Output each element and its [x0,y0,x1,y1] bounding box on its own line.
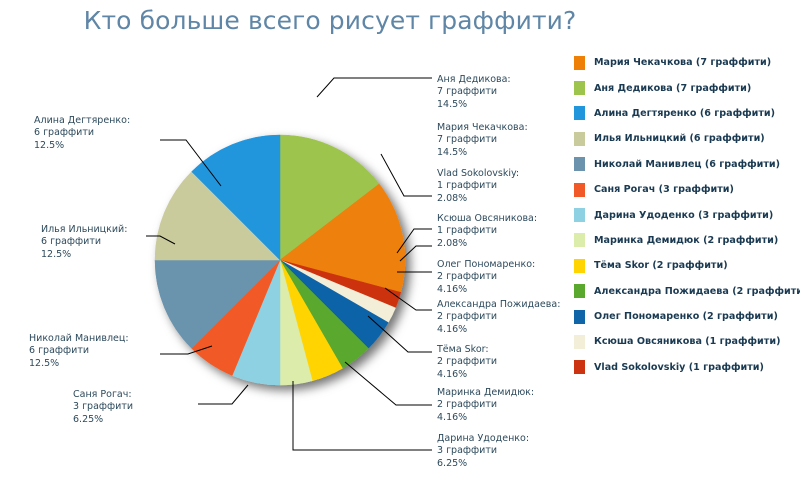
callout-percent: 4.16% [437,324,560,336]
callout-label: Николай Манивлец:6 граффити12.5% [29,333,129,370]
callout-percent: 12.5% [29,358,129,370]
callout-name: Александра Пожидаева: [437,299,560,311]
callout-name: Маринка Демидюк: [437,387,534,399]
callout-count: 6 граффити [41,236,127,248]
legend-label: Аня Дедикова (7 граффити) [594,83,751,94]
legend-label: Мария Чекачкова (7 граффити) [594,57,771,68]
callout-percent: 2.08% [437,238,537,250]
legend-swatch-icon [574,335,585,349]
callout-count: 7 граффити [437,86,511,98]
legend-label: Ксюша Овсяникова (1 граффити) [594,336,780,347]
callout-count: 2 граффити [437,399,534,411]
callout-percent: 4.16% [437,284,535,296]
leader-line [317,78,432,97]
callout-name: Алина Дегтяренко: [34,115,130,127]
pie-slices [155,135,405,385]
legend-item[interactable]: Александра Пожидаева (2 граффити) [574,279,800,304]
callout-count: 2 граффити [437,311,560,323]
callout-percent: 14.5% [437,147,528,159]
legend-item[interactable]: Маринка Демидюк (2 граффити) [574,228,800,253]
legend-label: Маринка Демидюк (2 граффити) [594,235,778,246]
legend-swatch-icon [574,310,585,324]
legend-item[interactable]: Мария Чекачкова (7 граффити) [574,50,800,75]
callout-percent: 4.16% [437,369,497,381]
legend-swatch-icon [574,183,585,197]
callout-percent: 4.16% [437,412,534,424]
callout-count: 2 граффити [437,271,535,283]
leader-line [198,385,248,404]
callout-count: 7 граффити [437,134,528,146]
callout-percent: 14.5% [437,99,511,111]
legend-swatch-icon [574,106,585,120]
legend-swatch-icon [574,132,585,146]
callout-label: Тёма Skor:2 граффити4.16% [437,344,497,381]
legend-swatch-icon [574,360,585,374]
callout-count: 3 граффити [73,401,133,413]
legend-swatch-icon [574,284,585,298]
legend-label: Дарина Удоденко (3 граффити) [594,210,773,221]
legend-item[interactable]: Vlad Sokolovskiy (1 граффити) [574,355,800,380]
legend-swatch-icon [574,81,585,95]
callout-label: Ксюша Овсяникова:1 граффити2.08% [437,213,537,250]
callout-name: Саня Рогач: [73,389,133,401]
callout-name: Мария Чекачкова: [437,122,528,134]
callout-label: Саня Рогач:3 граффити6.25% [73,389,133,426]
callout-percent: 6.25% [73,414,133,426]
callout-label: Олег Пономаренко:2 граффити4.16% [437,259,535,296]
legend-label: Саня Рогач (3 граффити) [594,184,734,195]
legend-label: Илья Ильницкий (6 граффити) [594,133,765,144]
callout-percent: 12.5% [34,140,130,152]
callout-label: Vlad Sokolovskiy:1 граффити2.08% [437,168,519,205]
callout-percent: 2.08% [437,193,519,205]
legend-label: Николай Манивлец (6 граффити) [594,159,780,170]
legend-label: Олег Пономаренко (2 граффити) [594,311,778,322]
callout-label: Дарина Удоденко:3 граффити6.25% [437,433,529,470]
legend-swatch-icon [574,233,585,247]
callout-count: 1 граффити [437,180,519,192]
legend-swatch-icon [574,56,585,70]
callout-name: Николай Манивлец: [29,333,129,345]
callout-label: Илья Ильницкий:6 граффити12.5% [41,224,127,261]
legend-item[interactable]: Тёма Skor (2 граффити) [574,253,800,278]
legend-item[interactable]: Илья Ильницкий (6 граффити) [574,126,800,151]
legend-item[interactable]: Саня Рогач (3 граффити) [574,177,800,202]
callout-name: Ксюша Овсяникова: [437,213,537,225]
callout-label: Алина Дегтяренко:6 граффити12.5% [34,115,130,152]
callout-name: Vlad Sokolovskiy: [437,168,519,180]
callout-name: Илья Ильницкий: [41,224,127,236]
legend-item[interactable]: Алина Дегтяренко (6 граффити) [574,101,800,126]
callout-count: 3 граффити [437,445,529,457]
callout-label: Аня Дедикова:7 граффити14.5% [437,74,511,111]
legend-item[interactable]: Аня Дедикова (7 граффити) [574,75,800,100]
callout-label: Маринка Демидюк:2 граффити4.16% [437,387,534,424]
leader-line [293,381,432,450]
callout-name: Олег Пономаренко: [437,259,535,271]
legend-item[interactable]: Николай Манивлец (6 граффити) [574,152,800,177]
callout-count: 6 граффити [34,127,130,139]
legend-swatch-icon [574,259,585,273]
callout-name: Дарина Удоденко: [437,433,529,445]
legend-swatch-icon [574,208,585,222]
legend-label: Vlad Sokolovskiy (1 граффити) [594,362,764,373]
legend-label: Тёма Skor (2 граффити) [594,260,728,271]
callout-name: Аня Дедикова: [437,74,511,86]
callout-count: 2 граффити [437,356,497,368]
callout-label: Мария Чекачкова:7 граффити14.5% [437,122,528,159]
legend-item[interactable]: Дарина Удоденко (3 граффити) [574,202,800,227]
leader-line [381,154,432,196]
callout-percent: 6.25% [437,458,529,470]
legend-label: Алина Дегтяренко (6 граффити) [594,108,775,119]
chart-page: Кто больше всего рисует граффити? Аня Де… [0,0,800,500]
legend-item[interactable]: Олег Пономаренко (2 граффити) [574,304,800,329]
callout-name: Тёма Skor: [437,344,497,356]
callout-count: 6 граффити [29,345,129,357]
chart-legend: Мария Чекачкова (7 граффити)Аня Дедикова… [574,50,800,390]
callout-count: 1 граффити [437,225,537,237]
legend-label: Александра Пожидаева (2 граффити) [594,286,800,297]
legend-swatch-icon [574,157,585,171]
callout-label: Александра Пожидаева:2 граффити4.16% [437,299,560,336]
callout-percent: 12.5% [41,249,127,261]
legend-item[interactable]: Ксюша Овсяникова (1 граффити) [574,329,800,354]
leader-line [345,362,432,405]
